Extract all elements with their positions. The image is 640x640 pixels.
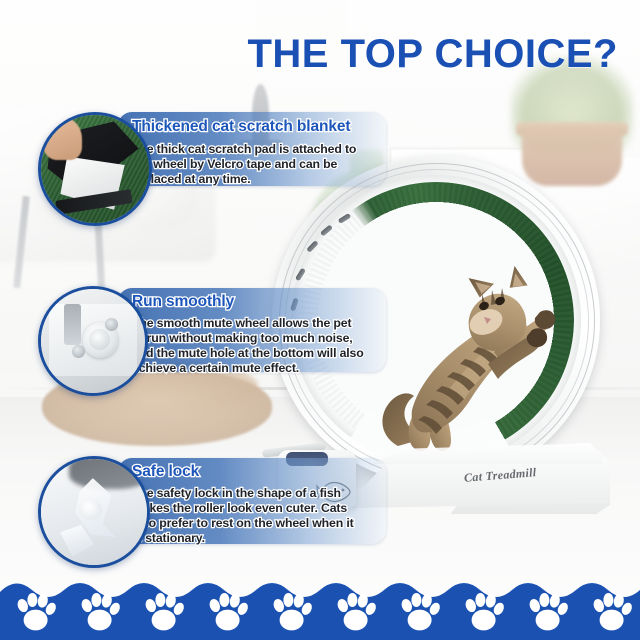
page-title: THE TOP CHOICE? (0, 34, 618, 74)
feature-inset-scratch-pad[interactable] (38, 112, 152, 226)
feature-body: The safety lock in the shape of a fish m… (132, 486, 364, 547)
paw-border-svg (0, 576, 640, 640)
roller-wheel-photo (41, 289, 145, 393)
feature-body: The thick cat scratch pad is attached to… (132, 142, 364, 187)
product-infographic: NT GONU UR US THE TOP CHOICE? (0, 0, 640, 640)
feature-inset-fish-lock[interactable] (38, 456, 150, 568)
feature-title: Thickened cat scratch blanket (132, 118, 351, 136)
cat-illustration (372, 260, 562, 460)
feature-body: The smooth mute wheel allows the pet to … (132, 316, 364, 377)
fish-lock-photo (41, 459, 147, 565)
feature-inset-roller[interactable] (38, 286, 148, 396)
scratch-pad-photo (41, 115, 149, 223)
feature-title: Run smoothly (132, 293, 234, 311)
paw-print-border (0, 576, 640, 640)
